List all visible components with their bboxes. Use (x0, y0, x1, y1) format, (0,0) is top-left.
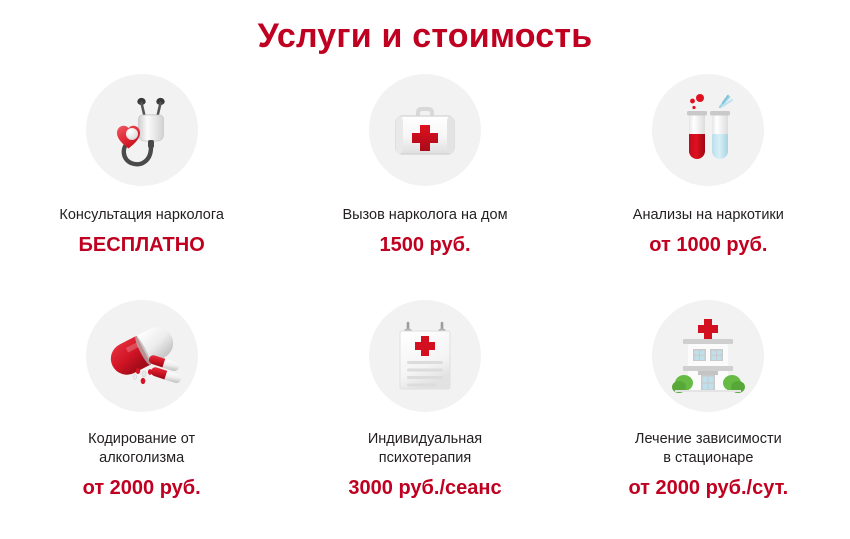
capsule-pills-icon (97, 311, 187, 401)
service-label-line-1: Лечение зависимости (635, 431, 782, 447)
services-pricing-page: Услуги и стоимость (0, 0, 850, 539)
service-label-line-2: психотерапия (379, 450, 472, 466)
service-label-line-1: Индивидуальная (368, 431, 482, 447)
stethoscope-heart-icon (97, 85, 187, 175)
service-card-inpatient[interactable]: Лечение зависимости в стационаре от 2000… (567, 300, 850, 526)
hospital-building-icon (663, 311, 753, 401)
service-price: от 2000 руб./сут. (628, 476, 788, 500)
prescription-sheet-icon (380, 311, 470, 401)
service-card-psychotherapy[interactable]: Индивидуальная психотерапия 3000 руб./се… (283, 300, 566, 526)
service-card-consultation[interactable]: Консультация нарколога БЕСПЛАТНО (0, 74, 283, 300)
service-icon-background (652, 74, 764, 186)
service-price: от 1000 руб. (649, 233, 767, 257)
service-price: 1500 руб. (379, 233, 470, 257)
test-tubes-icon (663, 85, 753, 175)
service-label: Консультация нарколога (59, 206, 224, 225)
service-price: БЕСПЛАТНО (79, 233, 205, 257)
service-card-coding[interactable]: Кодирование от алкоголизма от 2000 руб. (0, 300, 283, 526)
service-icon-background (652, 300, 764, 412)
service-label-line-1: Кодирование от (88, 431, 195, 447)
service-label: Кодирование от алкоголизма (88, 430, 195, 468)
service-label-line-2: алкоголизма (99, 450, 184, 466)
service-label-line-2: в стационаре (663, 450, 753, 466)
service-label: Вызов нарколога на дом (342, 206, 507, 225)
service-card-drug-tests[interactable]: Анализы на наркотики от 1000 руб. (567, 74, 850, 300)
services-grid: Консультация нарколога БЕСПЛАТНО (0, 74, 850, 526)
first-aid-kit-icon (380, 85, 470, 175)
service-label: Индивидуальная психотерапия (368, 430, 482, 468)
service-icon-background (86, 74, 198, 186)
service-price: от 2000 руб. (83, 476, 201, 500)
service-icon-background (369, 74, 481, 186)
service-price: 3000 руб./сеанс (348, 476, 501, 500)
service-icon-background (86, 300, 198, 412)
service-card-home-visit[interactable]: Вызов нарколога на дом 1500 руб. (283, 74, 566, 300)
page-title: Услуги и стоимость (0, 0, 850, 56)
service-label: Анализы на наркотики (633, 206, 784, 225)
service-icon-background (369, 300, 481, 412)
service-label: Лечение зависимости в стационаре (635, 430, 782, 468)
